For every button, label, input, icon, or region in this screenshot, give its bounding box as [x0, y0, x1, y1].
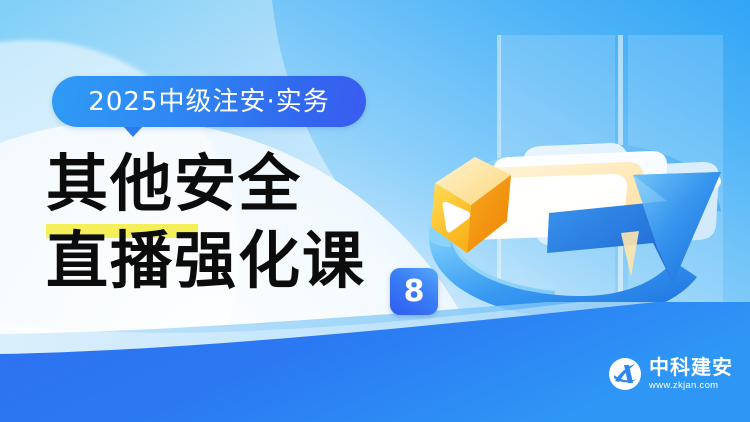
brand-name: 中科建安	[649, 357, 733, 377]
brand-logo-text: 中科建安 www.zkjan.com	[649, 357, 733, 391]
episode-number-badge: 8	[390, 268, 438, 315]
episode-number-label: 8	[404, 277, 425, 307]
brand-logo: 中科建安 www.zkjan.com	[608, 357, 733, 391]
title-line-1: 其他安全	[46, 152, 466, 215]
course-category-label: 2025中级注安·实务	[88, 89, 329, 115]
title-line-2-text: 直播强化课	[46, 229, 366, 292]
title-line-1-text: 其他安全	[46, 152, 302, 215]
brand-url: www.zkjan.com	[649, 381, 733, 391]
course-poster: 2025中级注安·实务 其他安全 直播强化课 8 中科建安 www.zkjan.…	[0, 0, 750, 422]
circle-swoosh-logo-icon	[608, 357, 642, 391]
folder-cream-peek	[621, 231, 639, 277]
course-category-badge: 2025中级注安·实务	[52, 76, 366, 127]
